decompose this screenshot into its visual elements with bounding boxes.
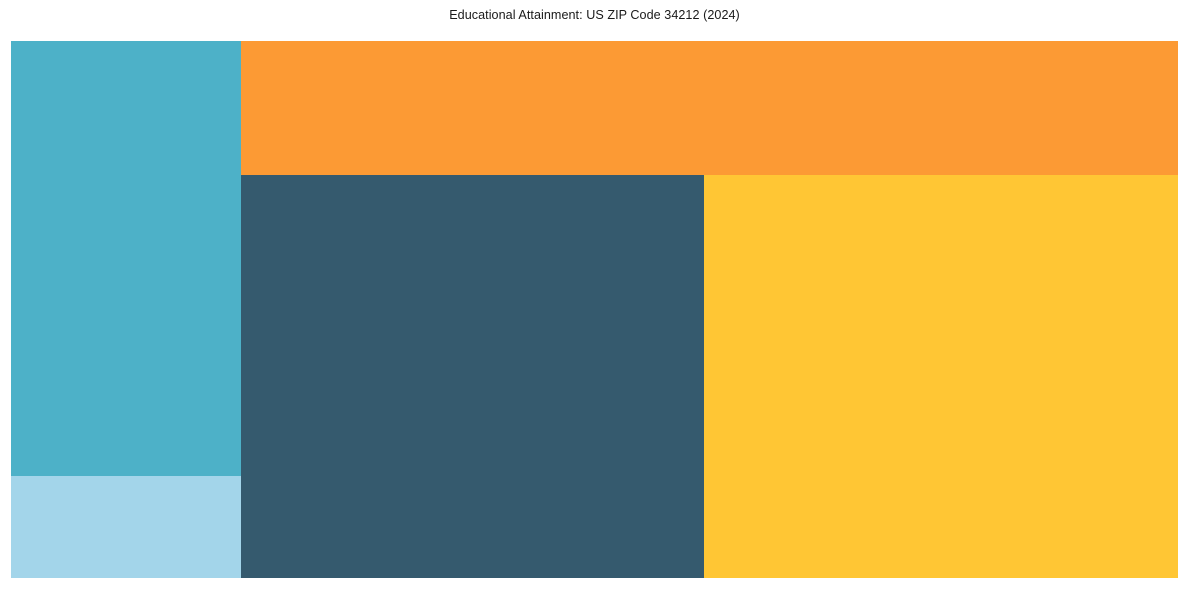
chart-title: Educational Attainment: US ZIP Code 3421… xyxy=(0,8,1189,23)
tile-yellow[interactable]: Graduate or professional degree xyxy=(704,175,1178,578)
tile-dark-blue[interactable]: Some college, no degree xyxy=(241,175,704,578)
tile-teal[interactable]: Bachelor's degree xyxy=(11,41,241,476)
tile-light-blue[interactable]: Less than high school xyxy=(11,476,241,578)
treemap-plot-area: Bachelor's degreeLess than high schoolHi… xyxy=(11,41,1178,578)
treemap-figure: Educational Attainment: US ZIP Code 3421… xyxy=(0,0,1189,590)
tile-orange[interactable]: High school graduate xyxy=(241,41,1178,175)
